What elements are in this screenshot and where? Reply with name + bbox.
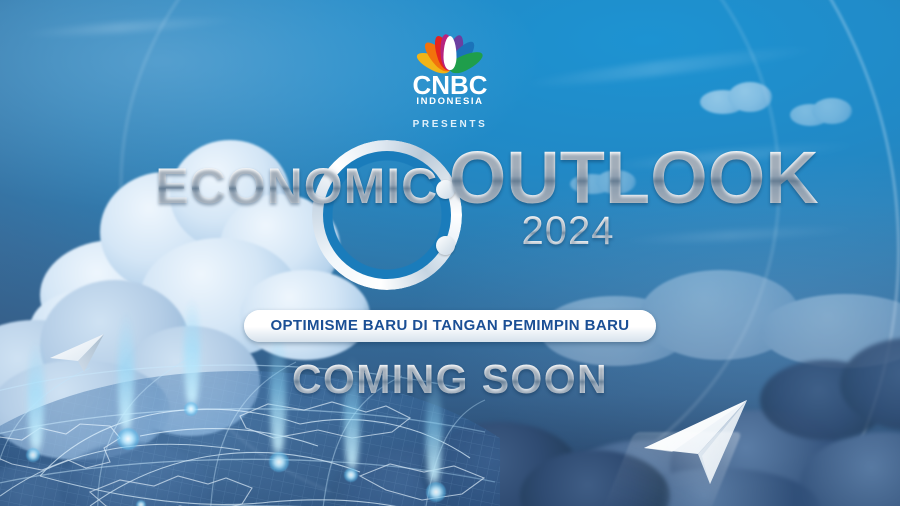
promo-poster: CNBC INDONESIA PRESENTS ECONOMIC OUTLOOK… (0, 0, 900, 506)
network-node-1 (26, 448, 40, 462)
cloud-wisp-b (600, 139, 860, 174)
tagline-row: OPTIMISME BARU DI TANGAN PEMIMPIN BARU (0, 310, 900, 342)
cnbc-wordmark: CNBC INDONESIA (0, 72, 900, 107)
coming-soon-row: COMING SOON (0, 356, 900, 403)
network-node-6 (426, 482, 446, 502)
network-node-7 (136, 500, 146, 506)
cnbc-region-name: INDONESIA (0, 97, 900, 107)
tagline-badge: OPTIMISME BARU DI TANGAN PEMIMPIN BARU (244, 310, 655, 342)
cloud-distant-right-c (570, 170, 640, 196)
cloud-wisp-d (620, 224, 860, 247)
cnbc-network-name: CNBC (0, 72, 900, 98)
ring-gap-mask (436, 186, 470, 248)
coming-soon-label: COMING SOON (292, 356, 608, 403)
cnbc-logo: CNBC INDONESIA PRESENTS (0, 30, 900, 130)
cnbc-peacock-icon (413, 30, 487, 70)
network-node-3 (184, 402, 198, 416)
presents-label: PRESENTS (0, 119, 900, 130)
network-node-2 (117, 428, 139, 450)
paper-plane-large-icon (614, 392, 774, 488)
network-node-4 (269, 452, 289, 472)
network-node-5 (344, 468, 358, 482)
